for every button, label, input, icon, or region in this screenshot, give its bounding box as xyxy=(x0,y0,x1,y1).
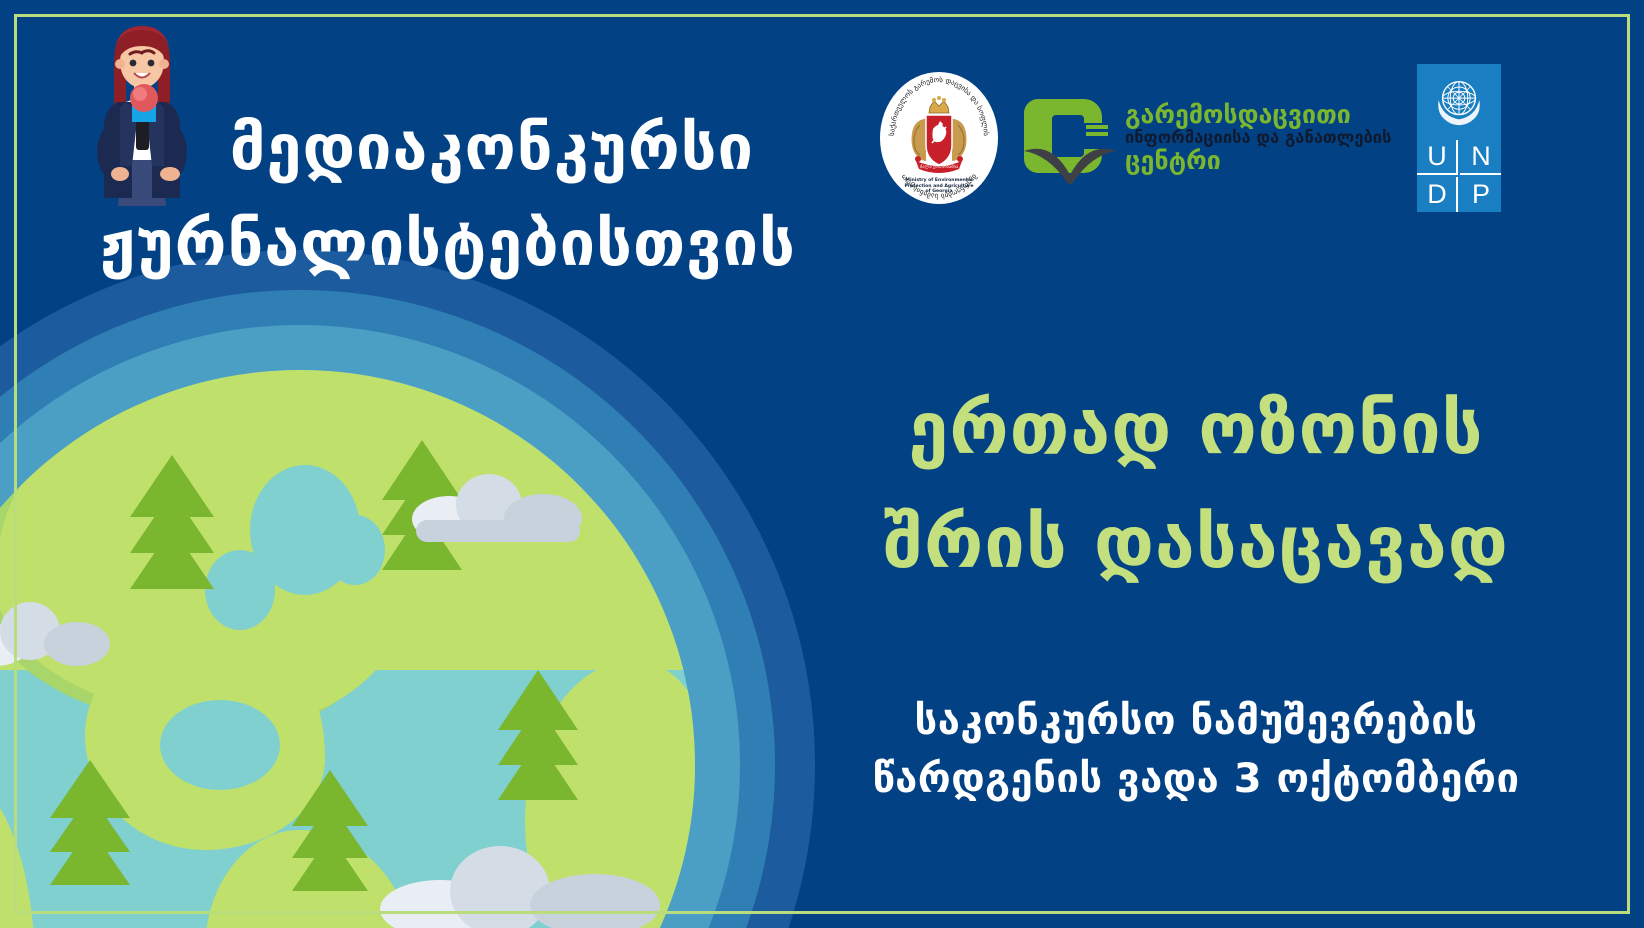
undp-letter-n: N xyxy=(1460,140,1501,175)
main-headline: ერთად ოზონის შრის დასაცავად xyxy=(816,372,1576,600)
eic-logo-mark xyxy=(1024,89,1116,187)
headline-line-2: შრის დასაცავად xyxy=(816,486,1576,600)
poster-canvas: მედიაკონკურსი ჟურნალისტებისთვის საქართვე… xyxy=(0,0,1644,928)
undp-letter-d: D xyxy=(1417,177,1458,212)
headline-line-1: ერთად ოზონის xyxy=(816,372,1576,486)
eic-logo-text: გარემოსდაცვითი ინფორმაციისა და განათლები… xyxy=(1125,102,1391,173)
eic-text-line-2: ინფორმაციისა და განათლების xyxy=(1125,129,1391,146)
subline-line-1: საკონკურსო ნამუშევრების xyxy=(816,692,1576,750)
title-line-2: ჟურნალისტებისთვის xyxy=(56,196,796,292)
environmental-education-centre-logo: გარემოსდაცვითი ინფორმაციისა და განათლები… xyxy=(1024,89,1391,187)
ocean-bay-arctic xyxy=(325,515,385,585)
title-line-1: მედიაკონკურსი xyxy=(56,100,796,196)
georgian-coat-of-arms: ძალა ერთობაშია xyxy=(902,95,976,181)
undp-logo: U N D P xyxy=(1417,64,1501,212)
undp-letter-u: U xyxy=(1417,140,1458,175)
cloud-icon xyxy=(380,840,660,928)
pine-tree-icon xyxy=(292,770,368,891)
subline-line-2: წარდგენის ვადა 3 ოქტომბერი xyxy=(816,750,1576,808)
un-emblem-icon xyxy=(1417,64,1501,138)
continent-west-edge xyxy=(0,770,35,928)
deadline-subtitle: საკონკურსო ნამუშევრების წარდგენის ვადა 3… xyxy=(816,692,1576,808)
undp-letter-p: P xyxy=(1460,177,1501,212)
ministry-latin-line-3: of Georgia xyxy=(880,189,998,195)
poster-title: მედიაკონკურსი ჟურნალისტებისთვის xyxy=(56,100,796,292)
ocean-bay-great-lakes xyxy=(205,550,275,630)
pine-tree-icon xyxy=(50,760,130,885)
eic-text-line-3: ცენტრი xyxy=(1125,148,1391,174)
logo-row: საქართველოს გარემოს დაცვისა და სოფლის მე… xyxy=(880,68,1501,208)
cloud-icon xyxy=(412,470,582,542)
svg-text:ძალა ერთობაშია: ძალა ერთობაშია xyxy=(920,163,959,170)
cloud-icon xyxy=(0,600,110,666)
pine-tree-icon xyxy=(498,670,578,800)
ocean-bay-gulf xyxy=(160,700,280,790)
eic-text-line-1: გარემოსდაცვითი xyxy=(1125,102,1391,128)
undp-letter-grid: U N D P xyxy=(1417,138,1501,212)
ministry-emblem-logo: საქართველოს გარემოს დაცვისა და სოფლის მე… xyxy=(880,72,998,204)
pine-tree-icon xyxy=(130,455,214,589)
